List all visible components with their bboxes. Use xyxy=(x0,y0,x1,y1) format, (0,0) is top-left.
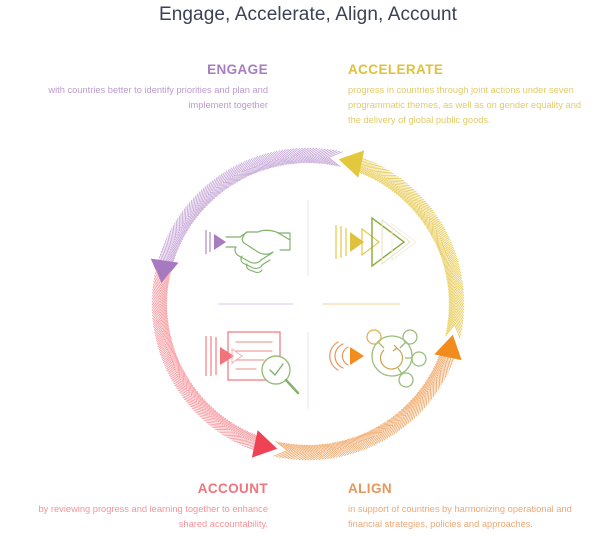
align-arc xyxy=(273,332,466,460)
network-nodes-icon xyxy=(330,330,426,387)
engage-arc xyxy=(148,148,343,285)
quadrant-text-engage: ENGAGE with countries better to identify… xyxy=(18,62,268,113)
cycle-diagram xyxy=(108,124,508,484)
fast-forward-icon xyxy=(336,218,416,266)
account-arrowhead xyxy=(252,430,280,462)
quadrant-text-align: ALIGN in support of countries by harmoni… xyxy=(348,481,593,532)
document-magnifier-icon xyxy=(206,332,298,393)
quadrant-description-accelerate: progress in countries through joint acti… xyxy=(348,83,593,128)
quadrant-description-align: in support of countries by harmonizing o… xyxy=(348,502,593,532)
accelerate-arrowhead xyxy=(336,146,364,178)
handshake-icon xyxy=(206,230,290,272)
quadrant-description-engage: with countries better to identify priori… xyxy=(18,83,268,113)
quadrant-text-accelerate: ACCELERATE progress in countries through… xyxy=(348,62,593,128)
page-title: Engage, Accelerate, Align, Account xyxy=(0,4,616,26)
align-arrowhead xyxy=(434,332,466,360)
quadrant-heading-accelerate: ACCELERATE xyxy=(348,62,593,78)
quadrant-text-account: ACCOUNT by reviewing progress and learni… xyxy=(18,481,268,532)
quadrant-description-account: by reviewing progress and learning toget… xyxy=(18,502,268,532)
quadrant-heading-engage: ENGAGE xyxy=(18,62,268,78)
